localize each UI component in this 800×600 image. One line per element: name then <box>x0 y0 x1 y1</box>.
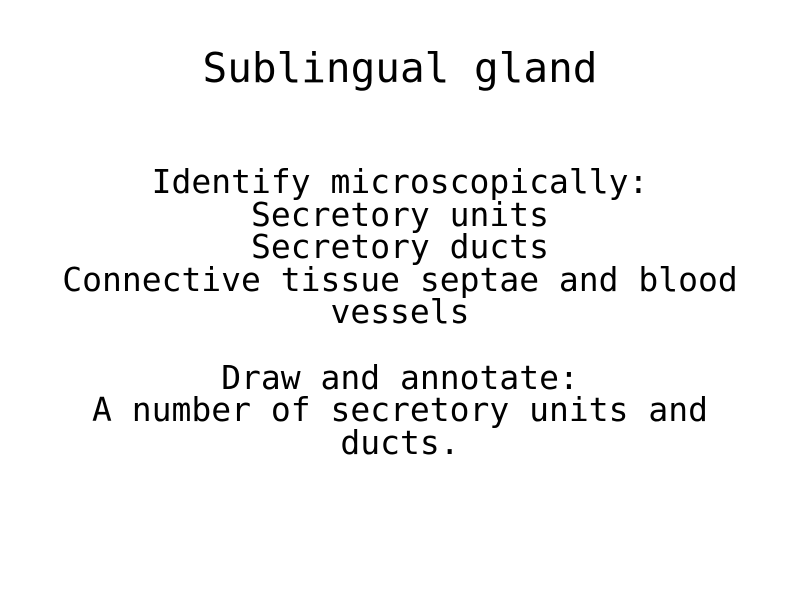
identify-item-3: vessels <box>0 296 800 329</box>
draw-section: Draw and annotate: A number of secretory… <box>0 362 800 460</box>
slide-canvas: Sublingual gland Identify microscopicall… <box>0 0 800 600</box>
body-spacer <box>0 329 800 362</box>
page-title: Sublingual gland <box>0 44 800 92</box>
draw-item-1: ducts. <box>0 427 800 460</box>
slide-body-text: Identify microscopically: Secretory unit… <box>0 166 800 459</box>
identify-item-1: Secretory ducts <box>0 231 800 264</box>
identify-section: Identify microscopically: Secretory unit… <box>0 166 800 329</box>
draw-item-0: A number of secretory units and <box>0 394 800 427</box>
identify-heading: Identify microscopically: <box>0 166 800 199</box>
